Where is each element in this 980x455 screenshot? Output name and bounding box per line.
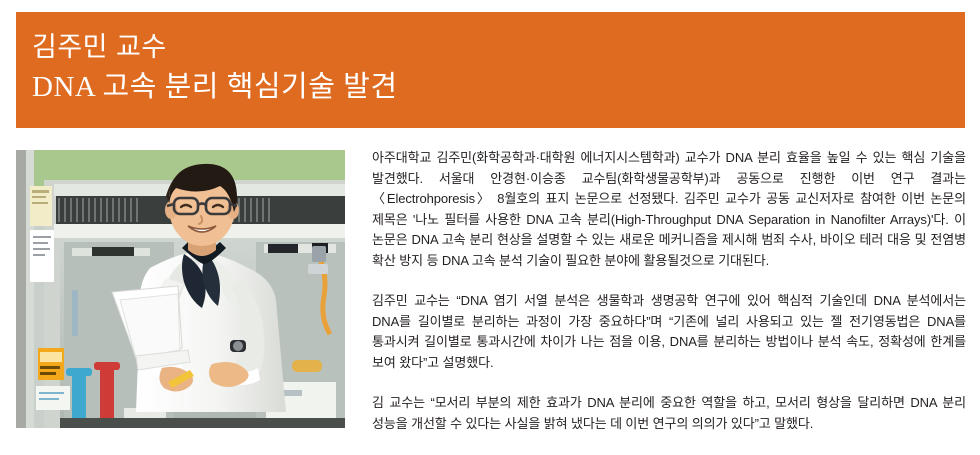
article-paragraph-1: 아주대학교 김주민(화학공학과·대학원 에너지시스템학과) 교수가 DNA 분리… (372, 148, 966, 271)
article-body: 아주대학교 김주민(화학공학과·대학원 에너지시스템학과) 교수가 DNA 분리… (372, 148, 966, 434)
page-header-banner: 김주민 교수 DNA 고속 분리 핵심기술 발견 (16, 12, 965, 128)
page-title: DNA 고속 분리 핵심기술 발견 (32, 66, 965, 108)
article-page: 김주민 교수 DNA 고속 분리 핵심기술 발견 (0, 0, 980, 455)
article-paragraph-2: 김주민 교수는 “DNA 염기 서열 분석은 생물학과 생명공학 연구에 있어 … (372, 291, 966, 373)
article-paragraph-3: 김 교수는 “모서리 부분의 제한 효과가 DNA 분리에 중요한 역할을 하고… (372, 393, 966, 434)
header-subject: 김주민 교수 (32, 28, 965, 66)
professor-photo (16, 150, 345, 428)
